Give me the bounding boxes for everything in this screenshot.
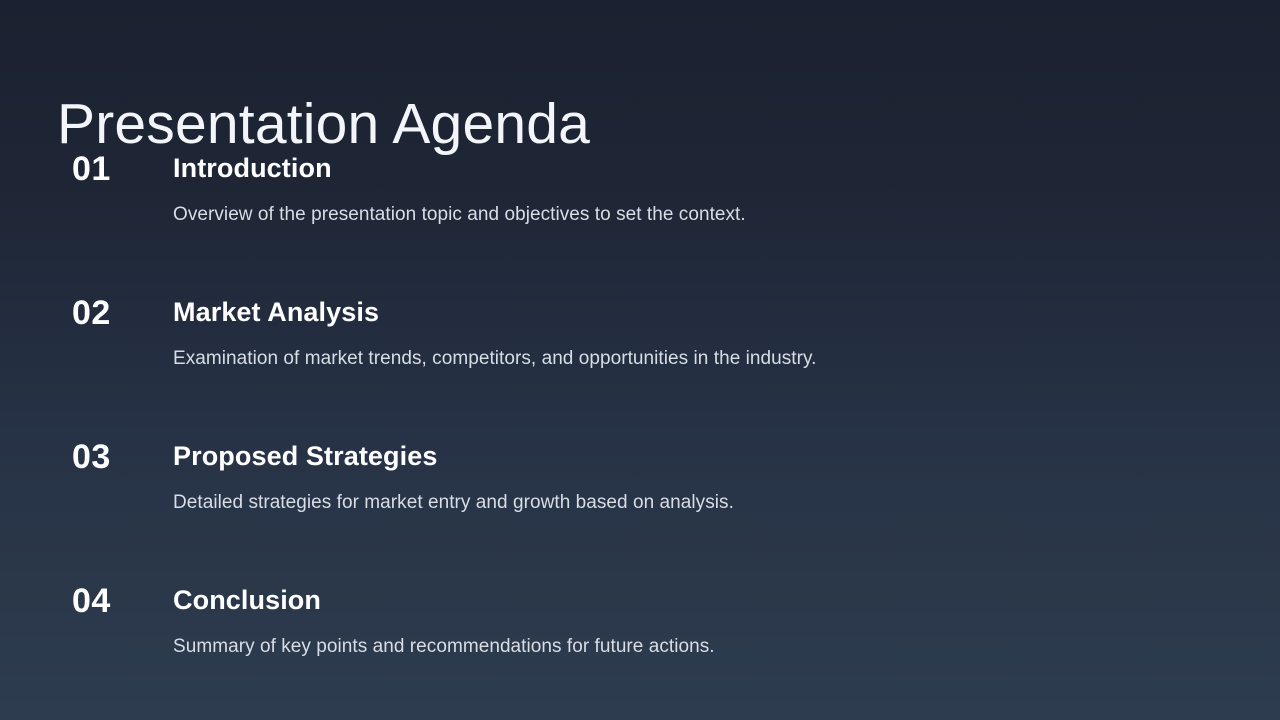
agenda-item-body: Conclusion Summary of key points and rec… bbox=[173, 578, 1223, 656]
agenda-item: 02 Market Analysis Examination of market… bbox=[0, 290, 1280, 434]
page-title: Presentation Agenda bbox=[57, 96, 590, 153]
agenda-item-title: Conclusion bbox=[173, 578, 1223, 614]
agenda-item-title: Introduction bbox=[173, 146, 1223, 182]
agenda-item: 04 Conclusion Summary of key points and … bbox=[0, 578, 1280, 720]
agenda-item-number: 04 bbox=[72, 584, 164, 618]
agenda-item-body: Proposed Strategies Detailed strategies … bbox=[173, 434, 1223, 512]
presentation-slide: Presentation Agenda 01 Introduction Over… bbox=[0, 0, 1280, 720]
agenda-item: 03 Proposed Strategies Detailed strategi… bbox=[0, 434, 1280, 578]
agenda-item-body: Market Analysis Examination of market tr… bbox=[173, 290, 1223, 368]
agenda-item-body: Introduction Overview of the presentatio… bbox=[173, 146, 1223, 224]
agenda-item-description: Overview of the presentation topic and o… bbox=[173, 182, 1223, 224]
agenda-item-title: Proposed Strategies bbox=[173, 434, 1223, 470]
agenda-item-description: Summary of key points and recommendation… bbox=[173, 614, 1223, 656]
agenda-item-title: Market Analysis bbox=[173, 290, 1223, 326]
agenda-item-number: 01 bbox=[72, 152, 164, 186]
agenda-item-number: 02 bbox=[72, 296, 164, 330]
agenda-list: 01 Introduction Overview of the presenta… bbox=[0, 146, 1280, 720]
agenda-item: 01 Introduction Overview of the presenta… bbox=[0, 146, 1280, 290]
agenda-item-description: Detailed strategies for market entry and… bbox=[173, 470, 1223, 512]
agenda-item-number: 03 bbox=[72, 440, 164, 474]
agenda-item-description: Examination of market trends, competitor… bbox=[173, 326, 1223, 368]
